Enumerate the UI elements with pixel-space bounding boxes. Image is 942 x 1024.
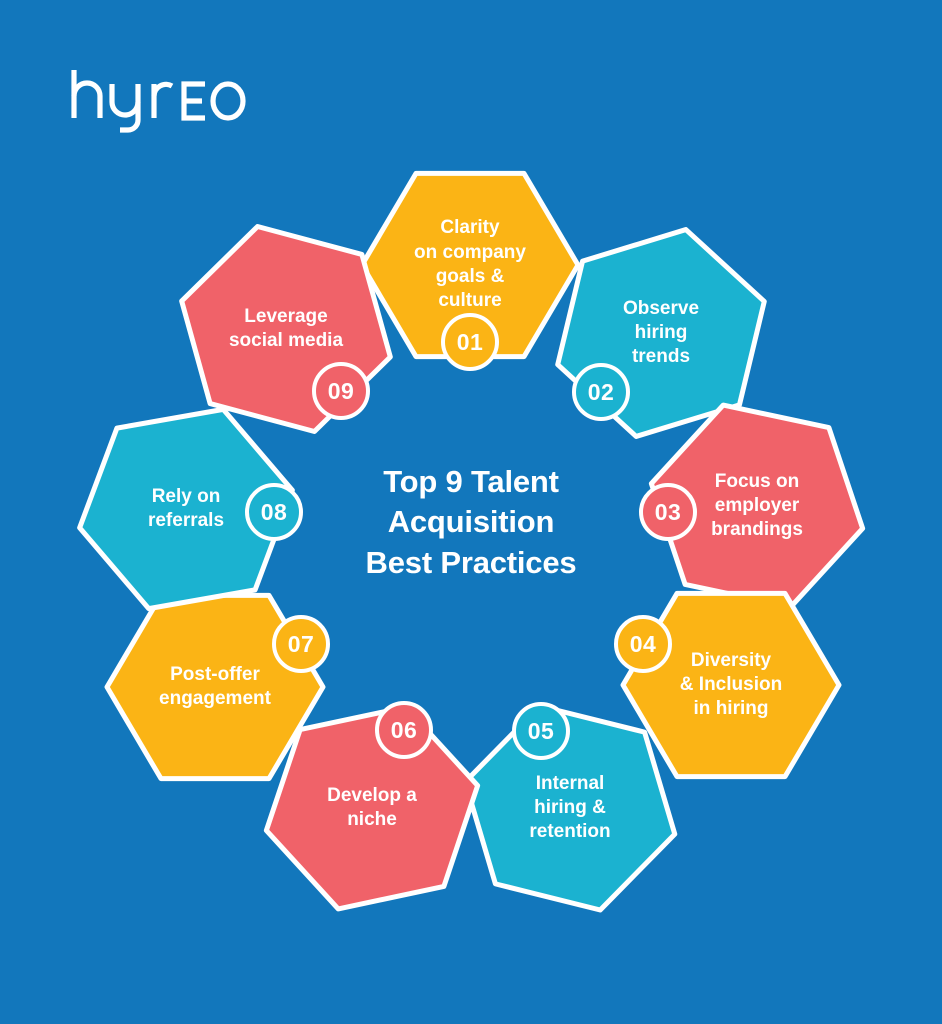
step-badge-04[interactable]: 04 bbox=[614, 615, 672, 673]
step-badge-03[interactable]: 03 bbox=[639, 483, 697, 541]
step-badge-08[interactable]: 08 bbox=[245, 483, 303, 541]
step-badge-number: 06 bbox=[391, 717, 418, 744]
step-badge-number: 09 bbox=[328, 378, 355, 405]
infographic-canvas: Clarityon companygoals &culture01Observe… bbox=[0, 0, 942, 1024]
step-badge-01[interactable]: 01 bbox=[441, 313, 499, 371]
step-badge-number: 01 bbox=[457, 329, 484, 356]
page-title-line: Acquisition bbox=[311, 502, 631, 542]
page-title-line: Best Practices bbox=[311, 543, 631, 583]
step-badge-number: 04 bbox=[630, 631, 657, 658]
step-badge-number: 02 bbox=[588, 379, 615, 406]
step-badge-02[interactable]: 02 bbox=[572, 363, 630, 421]
step-badge-06[interactable]: 06 bbox=[375, 701, 433, 759]
page-title-line: Top 9 Talent bbox=[311, 462, 631, 502]
hexagon-shape bbox=[145, 188, 427, 470]
step-badge-05[interactable]: 05 bbox=[512, 702, 570, 760]
step-badge-09[interactable]: 09 bbox=[312, 362, 370, 420]
step-badge-number: 08 bbox=[261, 499, 288, 526]
step-badge-number: 05 bbox=[528, 718, 555, 745]
step-badge-number: 07 bbox=[288, 631, 315, 658]
page-title: Top 9 TalentAcquisitionBest Practices bbox=[311, 462, 631, 583]
hexagon-node-09[interactable]: Leveragesocial media bbox=[171, 214, 401, 444]
step-badge-number: 03 bbox=[655, 499, 682, 526]
